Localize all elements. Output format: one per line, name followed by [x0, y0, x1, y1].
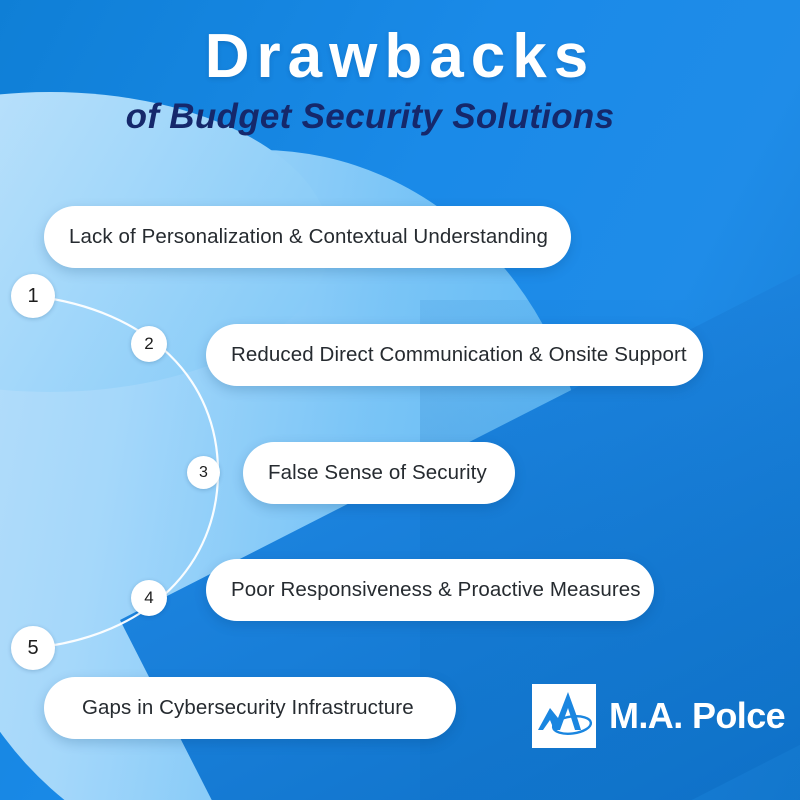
step-badge-2-number: 2 [144, 334, 153, 354]
step-badge-2[interactable]: 2 [131, 326, 167, 362]
list-item-label: Lack of Personalization & Contextual Und… [69, 225, 548, 249]
infographic-canvas: Drawbacks of Budget Security Solutions 1… [0, 0, 800, 800]
list-item[interactable]: Lack of Personalization & Contextual Und… [44, 206, 571, 268]
step-badge-5-number: 5 [27, 637, 38, 660]
list-item[interactable]: Gaps in Cybersecurity Infrastructure [44, 677, 456, 739]
step-badge-4[interactable]: 4 [131, 580, 167, 616]
step-badge-1[interactable]: 1 [11, 274, 55, 318]
list-item-label: Poor Responsiveness & Proactive Measures [231, 578, 641, 602]
list-item[interactable]: Reduced Direct Communication & Onsite Su… [206, 324, 703, 386]
list-item[interactable]: Poor Responsiveness & Proactive Measures [206, 559, 654, 621]
list-item-label: Reduced Direct Communication & Onsite Su… [231, 343, 687, 367]
brand-name: M.A. Polce [609, 695, 785, 737]
list-item[interactable]: False Sense of Security [243, 442, 515, 504]
step-badge-1-number: 1 [27, 285, 38, 308]
step-badge-4-number: 4 [144, 588, 153, 608]
ma-polce-mark-icon [532, 684, 596, 748]
list-item-label: Gaps in Cybersecurity Infrastructure [82, 696, 414, 720]
brand-logo[interactable]: M.A. Polce [532, 684, 785, 748]
step-badge-3-number: 3 [199, 464, 208, 482]
step-badge-5[interactable]: 5 [11, 626, 55, 670]
step-badge-3[interactable]: 3 [187, 456, 220, 489]
list-item-label: False Sense of Security [268, 461, 487, 485]
